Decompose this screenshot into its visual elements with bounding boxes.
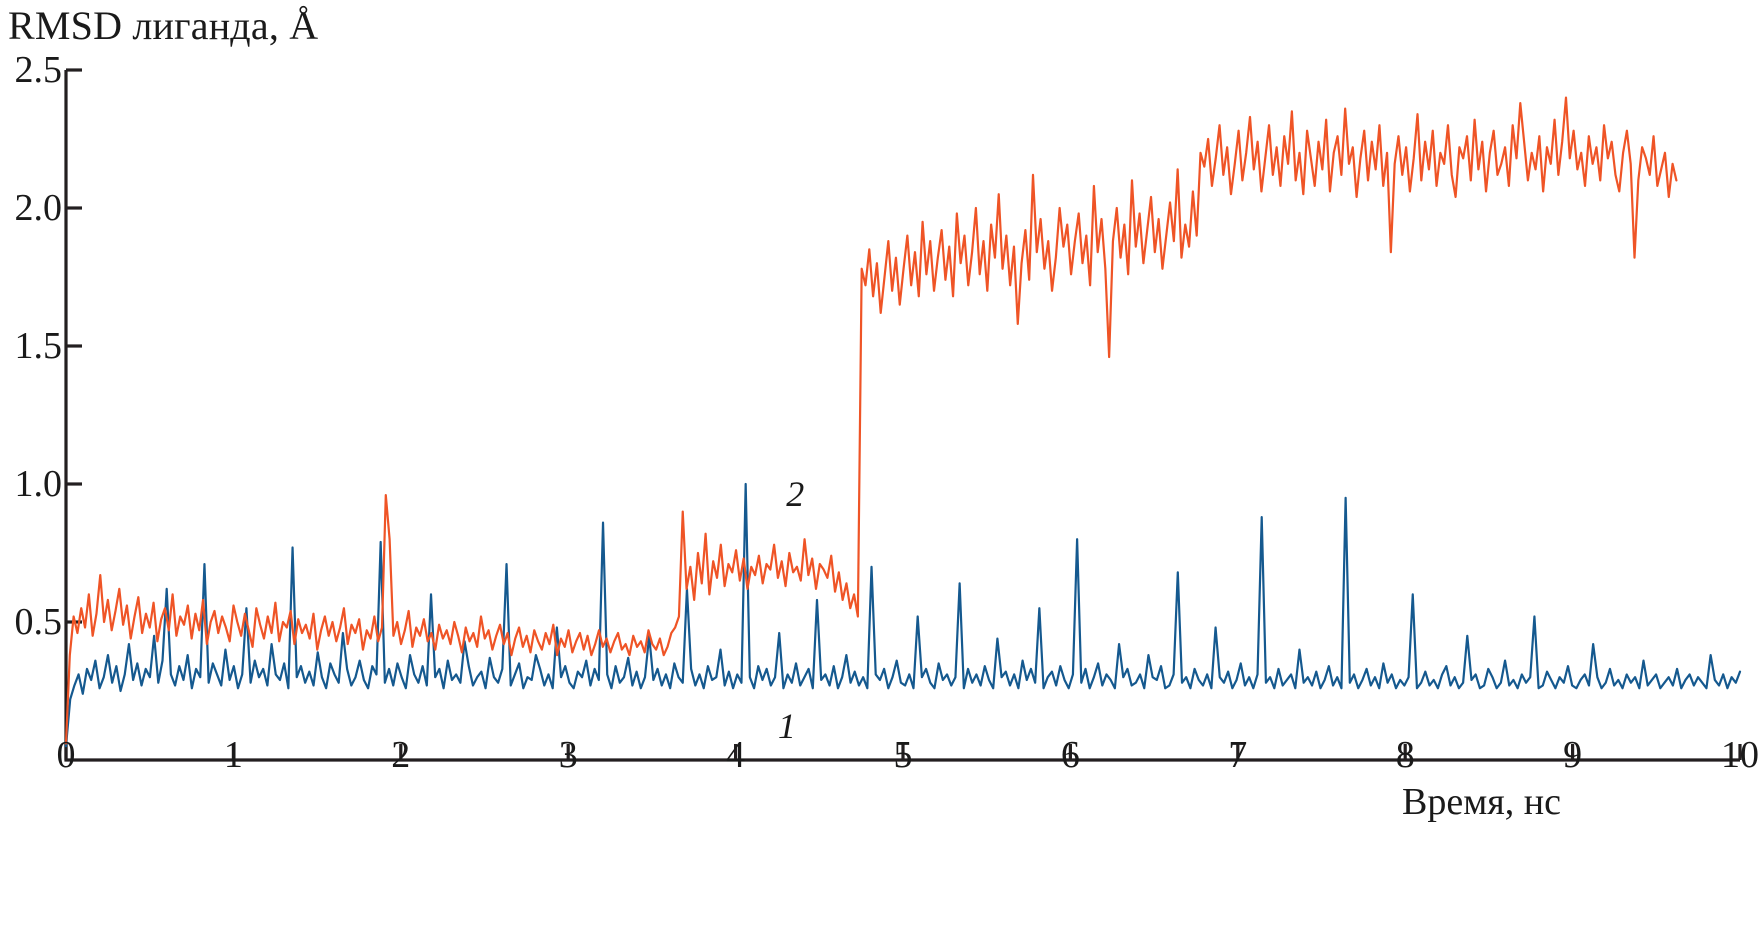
- x-tick-label: 3: [538, 736, 598, 774]
- series-annotation-1: 1: [778, 708, 796, 744]
- y-tick-label: 1.0: [0, 465, 62, 503]
- y-tick-label: 0.5: [0, 603, 62, 641]
- series-line-2: [66, 98, 1676, 744]
- series-line-1: [66, 484, 1740, 746]
- x-tick-label: 10: [1710, 736, 1761, 774]
- y-tick-label: 2.0: [0, 189, 62, 227]
- x-tick-label: 1: [203, 736, 263, 774]
- x-tick-label: 4: [706, 736, 766, 774]
- x-tick-label: 5: [873, 736, 933, 774]
- x-tick-label: 9: [1543, 736, 1603, 774]
- x-tick-label: 8: [1375, 736, 1435, 774]
- plot-canvas: [0, 0, 1761, 927]
- chart-figure: RMSD лиганда, Å Время, нс 0.51.01.52.02.…: [0, 0, 1761, 927]
- series-group: [66, 98, 1740, 747]
- series-annotation-2: 2: [786, 476, 804, 512]
- x-tick-label: 7: [1208, 736, 1268, 774]
- y-tick-label: 1.5: [0, 327, 62, 365]
- y-tick-label: 2.5: [0, 51, 62, 89]
- x-tick-label: 6: [1040, 736, 1100, 774]
- x-tick-label: 2: [371, 736, 431, 774]
- x-tick-label: 0: [36, 736, 96, 774]
